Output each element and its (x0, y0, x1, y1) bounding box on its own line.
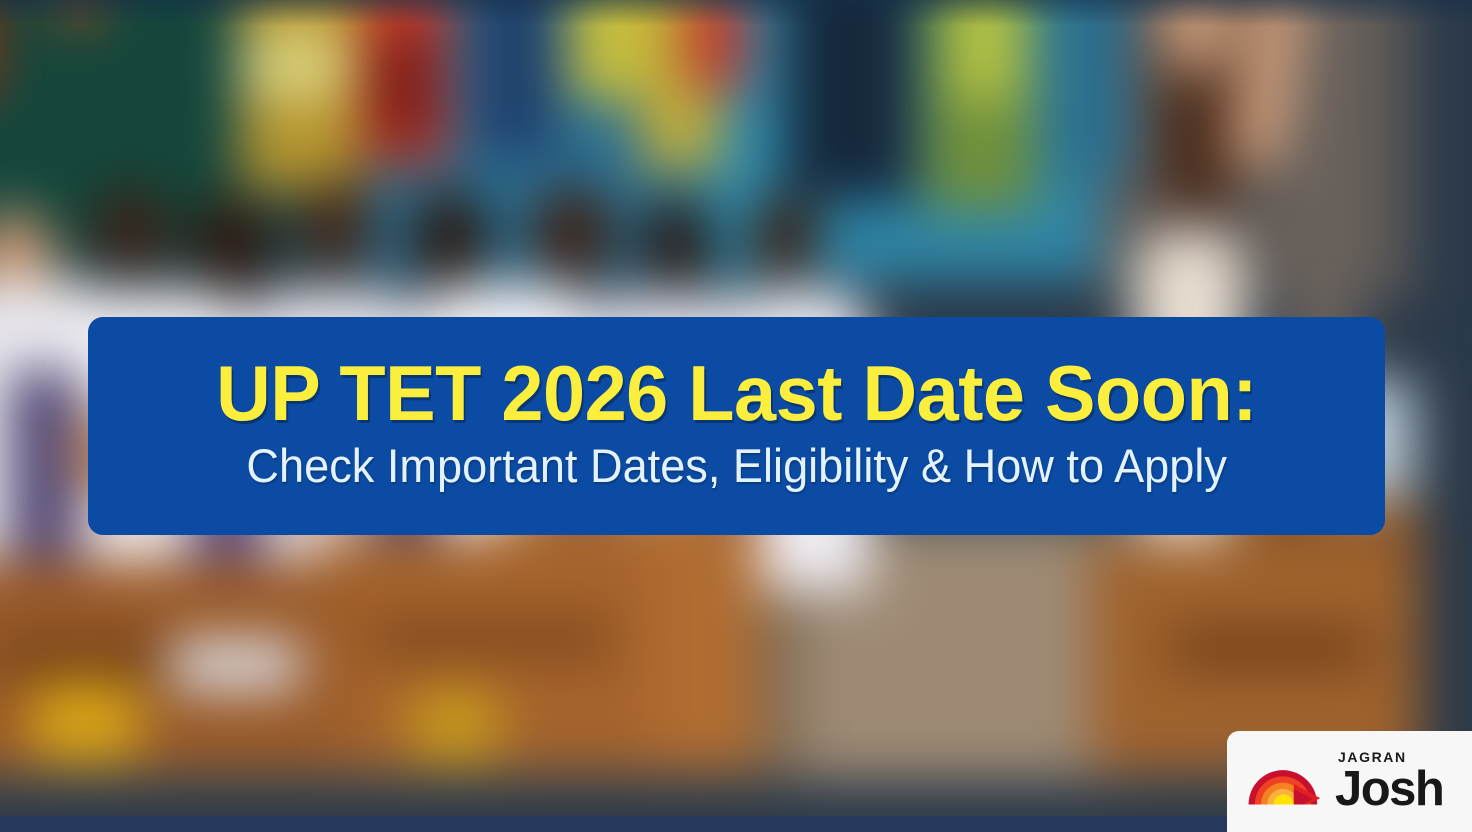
banner-subtitle: Check Important Dates, Eligibility & How… (246, 440, 1227, 492)
student-figure (300, 180, 375, 270)
logo-josh-text: Josh (1335, 765, 1443, 814)
top-vignette (0, 0, 1472, 26)
headline-banner: UP TET 2026 Last Date Soon: Check Import… (88, 317, 1385, 535)
student-figure (90, 185, 170, 275)
wall-poster (1050, 0, 1130, 180)
sunburst-icon (1247, 760, 1325, 810)
wall-poster (240, 30, 350, 100)
jagran-josh-logo[interactable]: JAGRAN Josh (1227, 731, 1472, 832)
student-figure (410, 190, 490, 285)
hero-card: UP TET 2026 Last Date Soon: Check Import… (0, 0, 1472, 832)
banner-title: UP TET 2026 Last Date Soon: (216, 353, 1257, 434)
wall-poster (368, 35, 434, 140)
desk-edge (1170, 630, 1370, 666)
school-bag (30, 680, 140, 760)
school-bag (410, 690, 500, 760)
student-figure (530, 185, 615, 280)
desk-edge (370, 620, 610, 656)
student-figure (190, 195, 275, 290)
student-figure (640, 200, 715, 285)
classroom-blackboard (785, 0, 915, 200)
logo-wordmark: JAGRAN Josh (1335, 750, 1443, 814)
open-notebook (170, 640, 300, 690)
student-figure (750, 195, 820, 280)
